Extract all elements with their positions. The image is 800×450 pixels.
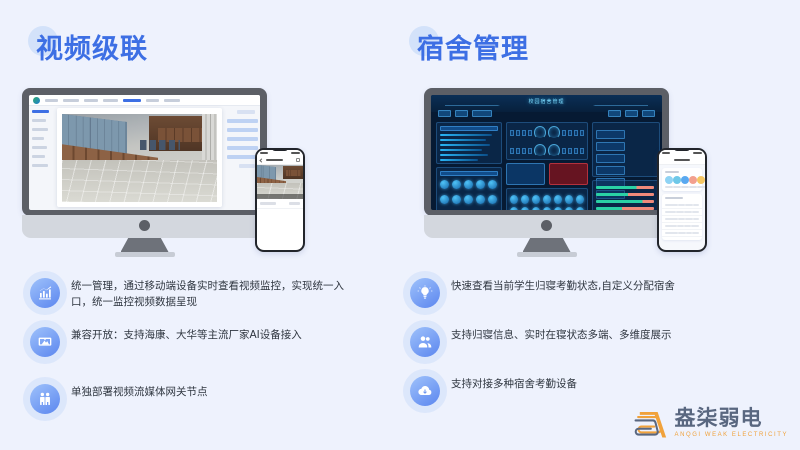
status-dot[interactable]: [464, 195, 473, 204]
group-people-icon: [410, 327, 440, 357]
feed-chairs: [140, 140, 180, 150]
phone-video-player[interactable]: [257, 165, 303, 199]
building-card[interactable]: [596, 166, 625, 175]
quick-action-row: [665, 176, 699, 188]
phone-navbar: [257, 156, 303, 165]
sidebar-item[interactable]: [32, 128, 48, 131]
monitor-screen: 校园宿舍管理: [431, 95, 662, 210]
status-dot[interactable]: [440, 180, 449, 189]
sidebar-item[interactable]: [32, 164, 48, 167]
nav-item[interactable]: [84, 99, 98, 102]
nav-item[interactable]: [164, 99, 180, 102]
nav-item[interactable]: [146, 99, 159, 102]
student-avatar[interactable]: [510, 195, 518, 204]
sidebar-item[interactable]: [32, 110, 49, 113]
panel-chip: [227, 137, 258, 141]
status-dot[interactable]: [464, 180, 473, 189]
campus-dormitory-dashboard: 校园宿舍管理: [431, 95, 662, 210]
table-row[interactable]: [662, 223, 702, 230]
feed-floor: [62, 160, 217, 202]
feature-item: 支持归寝信息、实时在寝状态多端、多维度展示: [410, 327, 672, 357]
status-dot[interactable]: [488, 180, 497, 189]
nav-item[interactable]: [103, 99, 118, 102]
panel-attendance-stats: [592, 180, 660, 210]
brand-mark-icon: [631, 406, 669, 440]
section-title-video-cascade: 视频级联: [36, 36, 148, 63]
gauge-ring: [548, 144, 560, 157]
header-button[interactable]: [472, 110, 492, 117]
two-people-icon: [30, 384, 60, 414]
student-avatar[interactable]: [554, 195, 562, 204]
monitor-chin: [22, 215, 267, 238]
table-row[interactable]: [662, 230, 702, 237]
panel-chip: [227, 146, 258, 150]
phone-quick-actions-card: [662, 168, 702, 191]
quick-action[interactable]: [689, 176, 697, 188]
panel-dorm-status-grid: [436, 167, 502, 210]
building-card[interactable]: [596, 154, 625, 163]
web-topbar: [29, 95, 260, 106]
panel-absent-count: [549, 163, 588, 185]
building-card[interactable]: [596, 142, 625, 151]
panel-chip: [227, 128, 258, 132]
feature-text: 兼容开放：支持海康、大华等主流厂家AI设备接入: [71, 327, 302, 343]
monitor-screen: [29, 95, 260, 210]
brand-name-en: ANQGI WEAK ELECTRICITY: [675, 432, 788, 438]
more-icon[interactable]: [296, 158, 300, 162]
panel-student-avatars: [506, 188, 588, 210]
phone-notch: [674, 148, 690, 151]
status-dot[interactable]: [452, 195, 461, 204]
phone-screen: [659, 150, 705, 250]
quick-action[interactable]: [697, 176, 705, 188]
panel-building-cards: [592, 122, 660, 177]
phone-notch: [272, 148, 288, 151]
header-button[interactable]: [455, 110, 468, 117]
brand-name-cn: 盎柒弱电: [675, 408, 788, 429]
student-avatar[interactable]: [576, 195, 584, 204]
student-avatar[interactable]: [521, 207, 529, 210]
feature-item: 快速查看当前学生归寝考勤状态,自定义分配宿舍: [410, 278, 675, 308]
quick-action[interactable]: [665, 176, 673, 188]
nav-item[interactable]: [45, 99, 58, 102]
sidebar-item[interactable]: [32, 146, 47, 149]
section-title-text: 视频级联: [36, 36, 148, 63]
panel-search-field[interactable]: [440, 126, 498, 131]
panel-chip: [227, 119, 258, 123]
student-avatar[interactable]: [521, 195, 529, 204]
slide-canvas: 视频级联: [0, 0, 800, 450]
web-sidebar: [29, 106, 54, 210]
sidebar-item[interactable]: [32, 119, 46, 122]
brand-logo: 盎柒弱电 ANQGI WEAK ELECTRICITY: [631, 406, 788, 440]
student-avatar[interactable]: [576, 207, 584, 210]
building-card[interactable]: [596, 130, 625, 139]
player-controlbar[interactable]: [257, 194, 303, 199]
student-avatar[interactable]: [554, 207, 562, 210]
lightbulb-icon: [410, 278, 440, 308]
web-body: [29, 106, 260, 210]
table-row[interactable]: [662, 202, 702, 209]
phone-records-table: [662, 194, 702, 240]
status-dot[interactable]: [452, 180, 461, 189]
gauge-ring: [548, 126, 560, 139]
dashboard-title: 校园宿舍管理: [528, 98, 564, 105]
card-title: [665, 171, 679, 173]
table-row[interactable]: [662, 216, 702, 223]
status-dot[interactable]: [476, 195, 485, 204]
monitor-stand-neck: [121, 238, 169, 252]
phone-page-title: [674, 159, 690, 162]
student-avatar[interactable]: [543, 207, 551, 210]
gauge-ring: [534, 126, 546, 139]
feed-cabinets: [286, 170, 302, 175]
monitor-bezel: [22, 88, 267, 216]
monitor-chin: [424, 215, 669, 238]
sidebar-item[interactable]: [32, 155, 45, 158]
app-logo-icon: [33, 97, 40, 104]
monitor-stand-foot: [115, 252, 175, 257]
student-avatar[interactable]: [532, 207, 540, 210]
gauge-ring: [534, 144, 546, 157]
panel-filter-field[interactable]: [440, 171, 498, 176]
section-title-dormitory-management: 宿舍管理: [417, 36, 529, 63]
feature-text: 单独部署视频流媒体网关节点: [71, 384, 208, 400]
phone-page-title: [266, 159, 283, 162]
header-button[interactable]: [608, 110, 621, 117]
monitor-logo-dot: [541, 220, 552, 231]
status-dot[interactable]: [440, 195, 449, 204]
monitor-logo-dot: [139, 220, 150, 231]
device-panel-icon: [30, 327, 60, 357]
nav-item-active[interactable]: [123, 99, 141, 102]
monitor-stand-foot: [517, 252, 577, 257]
panel-dorm-overview: [436, 122, 502, 164]
video-preview-modal: [57, 108, 222, 207]
panel-chip: [239, 164, 255, 168]
panel-chip: [237, 110, 255, 114]
panel-chip: [227, 155, 258, 159]
panel-in-dorm-count: [506, 163, 545, 185]
header-button[interactable]: [625, 110, 638, 117]
feature-text: 支持对接多种宿舍考勤设备: [451, 376, 577, 392]
video-surveillance-web-console: [29, 95, 260, 210]
section-title-text: 宿舍管理: [417, 36, 529, 63]
brand-text: 盎柒弱电 ANQGI WEAK ELECTRICITY: [675, 408, 788, 438]
status-dot[interactable]: [488, 195, 497, 204]
student-avatar[interactable]: [565, 207, 573, 210]
desktop-monitor: [22, 88, 267, 257]
table-title: [665, 197, 683, 199]
feature-item: 单独部署视频流媒体网关节点: [30, 384, 208, 414]
header-button[interactable]: [642, 110, 655, 117]
feature-text: 快速查看当前学生归寝考勤状态,自定义分配宿舍: [451, 278, 675, 294]
student-avatar[interactable]: [543, 195, 551, 204]
feature-text: 支持归寝信息、实时在寝状态多端、多维度展示: [451, 327, 672, 343]
status-dot[interactable]: [476, 180, 485, 189]
phone-screen: [257, 150, 303, 250]
student-avatar[interactable]: [565, 195, 573, 204]
panel-gauges: [506, 122, 588, 160]
camera-live-feed: [62, 114, 217, 202]
desktop-monitor: 校园宿舍管理: [424, 88, 669, 257]
table-row[interactable]: [662, 209, 702, 216]
phone-navbar: [659, 156, 705, 165]
student-avatar[interactable]: [510, 207, 518, 210]
nav-item[interactable]: [63, 99, 79, 102]
feature-item: 兼容开放：支持海康、大华等主流厂家AI设备接入: [30, 327, 302, 357]
feature-item: 统一管理，通过移动端设备实时查看视频监控，实现统一入口，统一监控视频数据呈现: [30, 278, 360, 310]
feature-item: 支持对接多种宿舍考勤设备: [410, 376, 577, 406]
quick-action[interactable]: [681, 176, 689, 188]
sidebar-item[interactable]: [32, 137, 44, 140]
mobile-phone-mockup: [255, 148, 305, 252]
header-button[interactable]: [438, 110, 451, 117]
feature-text: 统一管理，通过移动端设备实时查看视频监控，实现统一入口，统一监控视频数据呈现: [71, 278, 360, 310]
student-avatar[interactable]: [532, 195, 540, 204]
web-main-area: [54, 106, 225, 210]
quick-action[interactable]: [673, 176, 681, 188]
monitor-bezel: 校园宿舍管理: [424, 88, 669, 216]
monitor-stand-neck: [523, 238, 571, 252]
phone-list-item[interactable]: [257, 199, 303, 209]
bar-chart-growth-icon: [30, 278, 60, 308]
mobile-phone-mockup: [657, 148, 707, 252]
back-chevron-icon[interactable]: [259, 158, 263, 162]
cloud-download-icon: [410, 376, 440, 406]
